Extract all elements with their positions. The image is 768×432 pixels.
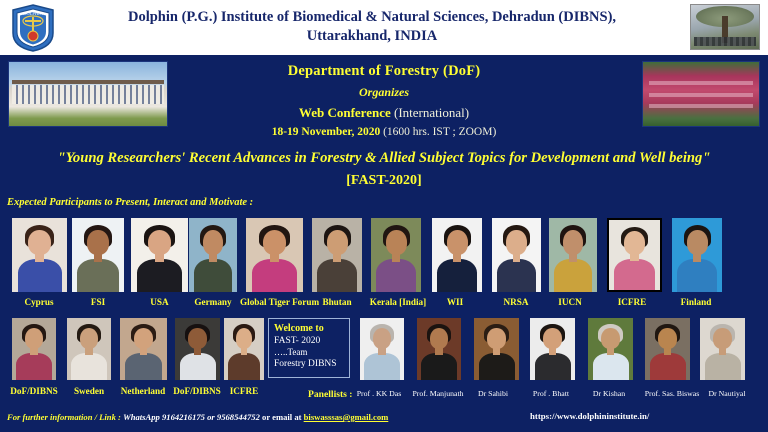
- participant-label: Global Tiger Forum: [240, 297, 317, 307]
- welcome-line-4: Forestry DIBNS: [274, 358, 344, 370]
- participant-label: ICFRE: [216, 386, 272, 396]
- footer-whatsapp: WhatsApp 9164216175 or 9568544752: [123, 412, 260, 422]
- footer-info-label: For further information / Link :: [7, 412, 121, 422]
- event-type: Web Conference (International): [170, 105, 598, 121]
- crowd-shape: [694, 37, 757, 47]
- panellist-name: Dr Sahibi: [460, 389, 526, 398]
- event-date-thin: (1600 hrs. IST ; ZOOM): [383, 126, 496, 138]
- panellist-photo: [417, 318, 461, 380]
- panellist-photo: [474, 318, 519, 380]
- participant-photo: [131, 218, 188, 292]
- dolphin-institute-crest-icon: DOLPHIN: [8, 3, 58, 53]
- panellist-photo: [588, 318, 633, 380]
- institute-title-line1: Dolphin (P.G.) Institute of Biomedical &…: [72, 8, 672, 27]
- participant-photo: [224, 318, 264, 380]
- welcome-box: Welcome to FAST- 2020 …..Team Forestry D…: [268, 318, 350, 378]
- portrait-photo: [12, 318, 56, 380]
- participant-label: Germany: [187, 297, 239, 307]
- conference-title: "Young Researchers' Recent Advances in F…: [0, 150, 768, 167]
- campus-building-photo: [8, 61, 168, 127]
- participant-photo: [312, 218, 362, 292]
- panellist-photo: [645, 318, 690, 380]
- portrait-photo: [530, 318, 575, 380]
- panellist-name: Dr Nautiyal: [694, 389, 760, 398]
- institute-title-line2: Uttarakhand, INDIA: [72, 27, 672, 46]
- event-date-bold: 18-19 November, 2020: [272, 126, 381, 138]
- portrait-photo: [120, 318, 167, 380]
- portrait-photo: [549, 218, 597, 292]
- building-roof-shape: [12, 80, 164, 84]
- participant-label: Finland: [666, 297, 726, 307]
- event-type-bold: Web Conference: [299, 105, 391, 120]
- participant-label: Bhutan: [312, 297, 362, 307]
- participant-photo: [12, 218, 67, 292]
- participant-label: DoF/DIBNS: [4, 386, 64, 396]
- participant-label: WII: [430, 297, 480, 307]
- portrait-photo: [224, 318, 264, 380]
- svg-text:DOLPHIN: DOLPHIN: [23, 11, 43, 16]
- conference-poster: DOLPHIN Dolphin (P.G.) Institute of Biom…: [0, 0, 768, 432]
- participant-label: IUCN: [545, 297, 595, 307]
- panellist-photo: [530, 318, 575, 380]
- portrait-photo: [246, 218, 303, 292]
- welcome-line-3: …..Team: [274, 347, 344, 358]
- welcome-line-1: Welcome to: [274, 323, 344, 335]
- portrait-photo: [12, 218, 67, 292]
- participant-label: Sweden: [62, 386, 116, 396]
- conference-acronym: [FAST-2020]: [0, 173, 768, 189]
- participant-photo: [67, 318, 111, 380]
- portrait-photo: [432, 218, 482, 292]
- participant-photo: [189, 218, 237, 292]
- participant-label: NRSA: [487, 297, 545, 307]
- panellist-name: Prof . Bhatt: [518, 389, 584, 398]
- footer-contact: For further information / Link : WhatsAp…: [7, 412, 388, 422]
- panellist-photo: [700, 318, 745, 380]
- participant-photo: [120, 318, 167, 380]
- portrait-photo: [645, 318, 690, 380]
- participant-label: Cyprus: [8, 297, 70, 307]
- organizes-label: Organizes: [170, 85, 598, 100]
- footer-email-link[interactable]: biswasssas@gmail.com: [304, 412, 389, 422]
- participant-photo: [492, 218, 541, 292]
- panellist-photo: [360, 318, 404, 380]
- event-date: 18-19 November, 2020 (1600 hrs. IST ; ZO…: [170, 126, 598, 138]
- portrait-photo: [588, 318, 633, 380]
- participant-photo: [607, 218, 662, 292]
- participant-label: USA: [131, 297, 188, 307]
- welcome-line-2: FAST- 2020: [274, 335, 344, 347]
- portrait-photo: [131, 218, 188, 292]
- group-photo-under-tree-image: [690, 4, 760, 50]
- portrait-photo: [417, 318, 461, 380]
- building-windows-shape: [12, 85, 164, 104]
- participant-label: ICFRE: [602, 297, 662, 307]
- portrait-photo: [189, 218, 237, 292]
- portrait-photo: [474, 318, 519, 380]
- portrait-photo: [492, 218, 541, 292]
- aerial-campus-photo: [642, 61, 760, 127]
- department-name: Department of Forestry (DoF): [170, 63, 598, 80]
- participant-photo: [371, 218, 421, 292]
- portrait-photo: [371, 218, 421, 292]
- portrait-photo: [312, 218, 362, 292]
- portrait-photo: [609, 220, 660, 290]
- participant-photo: [432, 218, 482, 292]
- poster-header: DOLPHIN Dolphin (P.G.) Institute of Biom…: [0, 0, 768, 55]
- portrait-photo: [175, 318, 220, 380]
- participant-label: Kerala [India]: [368, 297, 428, 307]
- event-type-thin: (International): [394, 105, 469, 120]
- banner-text-block: Department of Forestry (DoF) Organizes W…: [170, 59, 598, 138]
- portrait-photo: [360, 318, 404, 380]
- participant-photo: [246, 218, 303, 292]
- institute-title: Dolphin (P.G.) Institute of Biomedical &…: [72, 8, 672, 46]
- participant-photo: [175, 318, 220, 380]
- portrait-photo: [700, 318, 745, 380]
- participant-photo: [72, 218, 124, 292]
- portrait-photo: [67, 318, 111, 380]
- participant-photo: [672, 218, 722, 292]
- participant-label: FSI: [72, 297, 124, 307]
- participant-photo: [12, 318, 56, 380]
- expected-participants-label: Expected Participants to Present, Intera…: [7, 197, 253, 208]
- portrait-photo: [672, 218, 722, 292]
- portrait-photo: [72, 218, 124, 292]
- participant-photo: [549, 218, 597, 292]
- footer-website-link[interactable]: https://www.dolphininstitute.in/: [530, 411, 649, 421]
- footer-or-email: or email at: [262, 412, 301, 422]
